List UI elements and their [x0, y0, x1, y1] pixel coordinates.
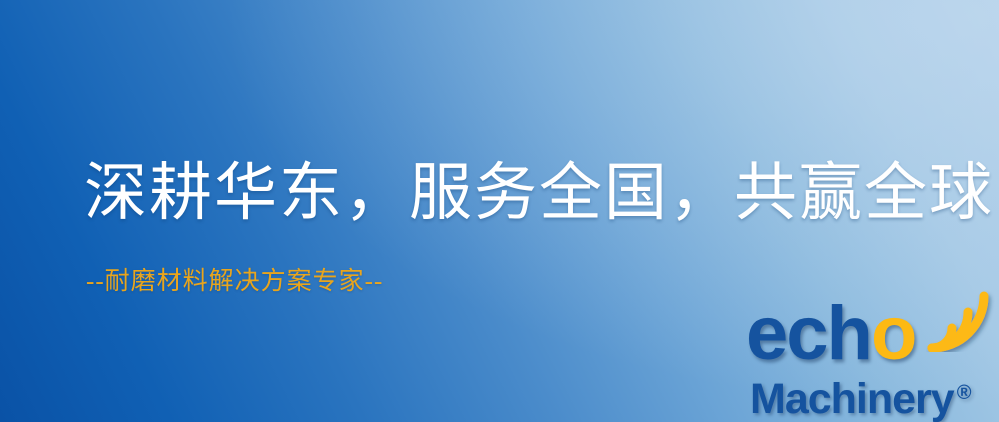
logo-text-o: o	[871, 291, 915, 376]
promo-banner: 深耕华东，服务全国，共赢全球 --耐磨材料解决方案专家-- echo Machi…	[0, 0, 999, 422]
logo-subtext-wrap: Machinery®	[750, 370, 971, 422]
logo-wordmark: echo	[746, 294, 915, 374]
logo-text-ech: ech	[746, 291, 871, 376]
banner-headline: 深耕华东，服务全国，共赢全球	[84, 155, 994, 231]
registered-trademark-icon: ®	[957, 382, 972, 404]
brand-logo[interactable]: echo Machinery®	[740, 296, 996, 420]
logo-text-machinery: Machinery	[750, 375, 954, 422]
echo-signal-arcs-icon	[926, 290, 999, 352]
banner-subheadline: --耐磨材料解决方案专家--	[86, 266, 383, 298]
